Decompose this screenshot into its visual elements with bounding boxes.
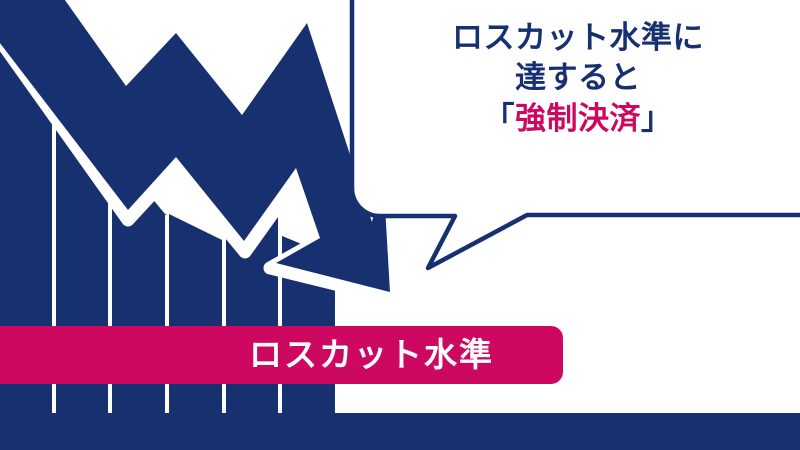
bubble-quote-close: 」 [641, 101, 673, 137]
speech-bubble-text: ロスカット水準に 達すると 「強制決済」 [368, 18, 788, 139]
bubble-line-2: 達すると [368, 58, 788, 98]
chart-baseline [0, 413, 800, 450]
bubble-line-1: ロスカット水準に [368, 18, 788, 58]
bubble-emphasis: 強制決済 [515, 101, 641, 137]
infographic-canvas: ロスカット水準に 達すると 「強制決済」 ロスカット水準 [0, 0, 800, 450]
bubble-line-3: 「強制決済」 [368, 99, 788, 139]
bubble-quote-open: 「 [484, 101, 516, 137]
threshold-banner-label: ロスカット水準 [0, 331, 556, 379]
